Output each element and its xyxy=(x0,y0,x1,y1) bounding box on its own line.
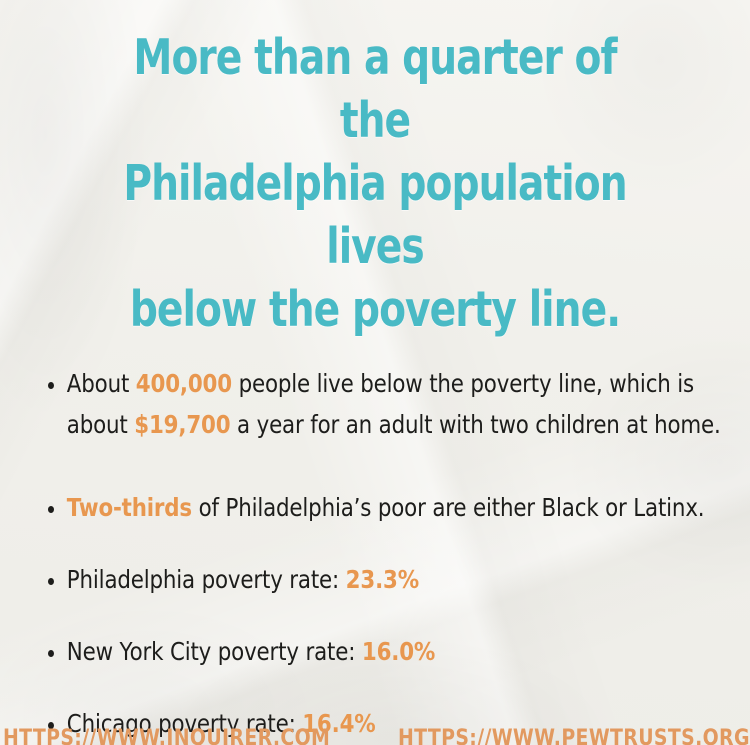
list-item-new-york-rate: New York City poverty rate: 16.0% xyxy=(48,631,747,672)
source-url-inquirer[interactable]: HTTPS://WWW.INQUIRER.COM xyxy=(3,726,330,745)
source-urls-bar: HTTPS://WWW.INQUIRER.COM HTTPS://WWW.PEW… xyxy=(0,715,750,745)
bullet-dot-icon xyxy=(48,578,54,585)
poverty-infographic-poster: More than a quarter of the Philadelphia … xyxy=(0,0,750,745)
statistic-text: Philadelphia poverty rate: xyxy=(67,565,346,594)
list-item-philadelphia-rate: Philadelphia poverty rate: 23.3% xyxy=(48,559,747,600)
list-item-poverty-population: About 400,000 people live below the pove… xyxy=(48,363,747,445)
statistic-text: a year for an adult with two children at… xyxy=(230,410,720,439)
highlighted-value: $19,700 xyxy=(134,410,230,439)
list-item-race-breakdown: Two-thirds of Philadelphia’s poor are ei… xyxy=(48,487,747,528)
poster-content: More than a quarter of the Philadelphia … xyxy=(0,0,750,744)
highlighted-value: 16.0% xyxy=(362,637,435,666)
page-title: More than a quarter of the Philadelphia … xyxy=(75,0,675,341)
highlighted-value: 23.3% xyxy=(346,565,419,594)
statistic-text: About xyxy=(67,369,136,398)
statistics-list: About 400,000 people live below the pove… xyxy=(0,341,750,744)
highlighted-value: 400,000 xyxy=(136,369,232,398)
bullet-dot-icon xyxy=(48,506,54,513)
statistic-text: of Philadelphia’s poor are either Black … xyxy=(192,493,704,522)
highlighted-value: Two-thirds xyxy=(67,493,192,522)
statistic-text: New York City poverty rate: xyxy=(67,637,362,666)
source-url-pewtrusts[interactable]: HTTPS://WWW.PEWTRUSTS.ORG xyxy=(398,726,750,745)
bullet-dot-icon xyxy=(48,382,54,389)
bullet-dot-icon xyxy=(48,650,54,657)
